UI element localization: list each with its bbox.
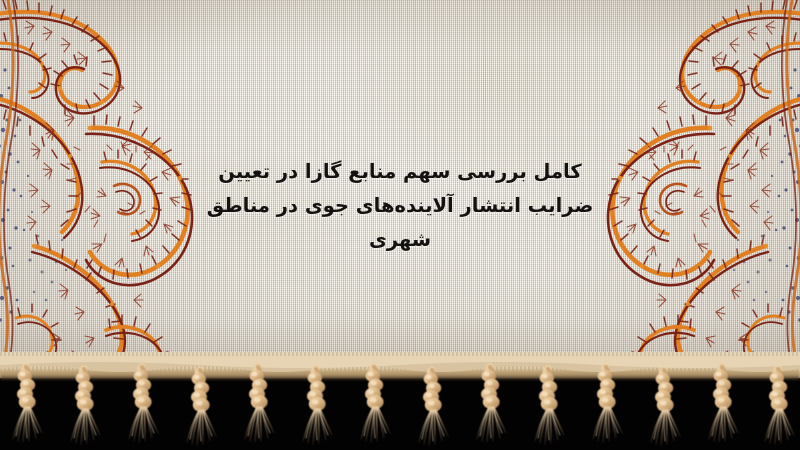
page-title: کامل بررسی سهم منابع گازا در تعیین ضرایب… (185, 155, 615, 257)
title-line-2: ضرایب انتشار آلاینده‌های جوی در مناطق (185, 189, 615, 223)
title-line-1: کامل بررسی سهم منابع گازا در تعیین (185, 155, 615, 189)
title-line-3: شهری (185, 223, 615, 257)
title-card: کامل بررسی سهم منابع گازا در تعیین ضرایب… (0, 0, 800, 450)
fringe-tassels (0, 356, 800, 450)
